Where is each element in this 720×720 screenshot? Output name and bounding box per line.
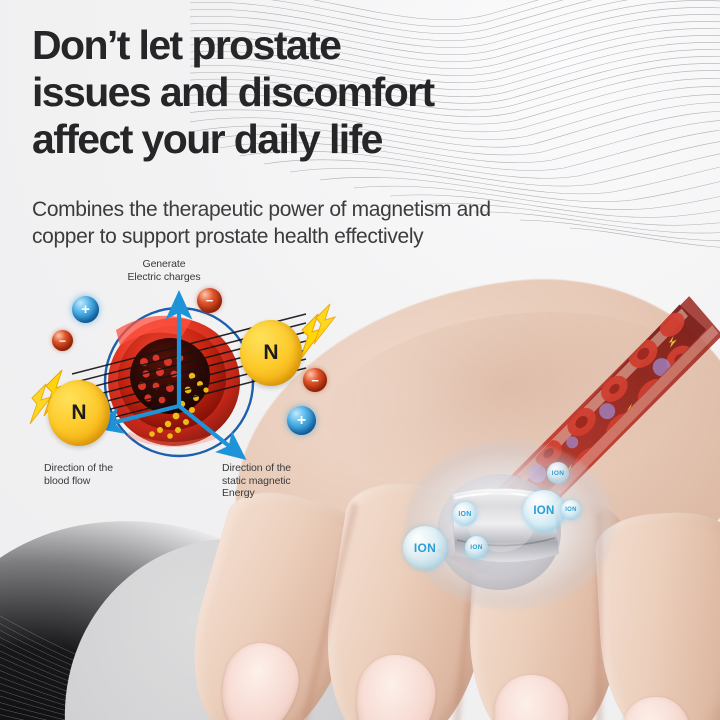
magnet-disc-right: N — [240, 320, 302, 386]
label-line: Direction of the — [44, 462, 174, 475]
label-line: Energy — [222, 487, 352, 500]
charge-sign: − — [206, 294, 214, 307]
subheadline-line-2: copper to support prostate health effect… — [32, 223, 672, 250]
magnet-pole-label: N — [71, 401, 86, 425]
finger-gap-3 — [594, 513, 604, 720]
charge-ball-positive-upper-left: + — [72, 296, 99, 323]
diagram-label-static-magnetic-energy-direction: Direction of the static magnetic Energy — [222, 462, 352, 500]
diagram-label-blood-flow-direction: Direction of the blood flow — [44, 462, 174, 487]
charge-sign: − — [311, 374, 319, 387]
knuckle-shading — [309, 289, 710, 520]
subheadline: Combines the therapeutic power of magnet… — [32, 196, 672, 250]
charge-sign: − — [59, 335, 66, 347]
label-line: static magnetic — [222, 475, 352, 488]
finger-4 — [594, 509, 720, 720]
charge-sign: + — [81, 302, 90, 317]
label-line: Direction of the — [222, 462, 352, 475]
charge-ball-negative-right: − — [303, 368, 327, 392]
magnet-pole-label: N — [263, 341, 278, 365]
label-line: blood flow — [44, 475, 174, 488]
magnetism-blood-flow-diagram: Generate Electric charges — [16, 258, 366, 508]
headline-line-2: issues and discomfort — [32, 69, 672, 116]
charge-ball-negative-upper-right: − — [197, 288, 222, 313]
charge-sign: + — [297, 413, 306, 429]
headline: Don’t let prostate issues and discomfort… — [32, 22, 672, 163]
promo-banner: ION ION ION ION ION ION Generate Electri… — [0, 0, 720, 720]
subheadline-line-1: Combines the therapeutic power of magnet… — [32, 196, 672, 223]
headline-line-1: Don’t let prostate — [32, 22, 672, 69]
charge-ball-positive-lower-right: + — [287, 406, 316, 435]
charge-ball-negative-left: − — [52, 330, 73, 351]
magnet-disc-left: N — [48, 380, 110, 446]
headline-line-3: affect your daily life — [32, 116, 672, 163]
